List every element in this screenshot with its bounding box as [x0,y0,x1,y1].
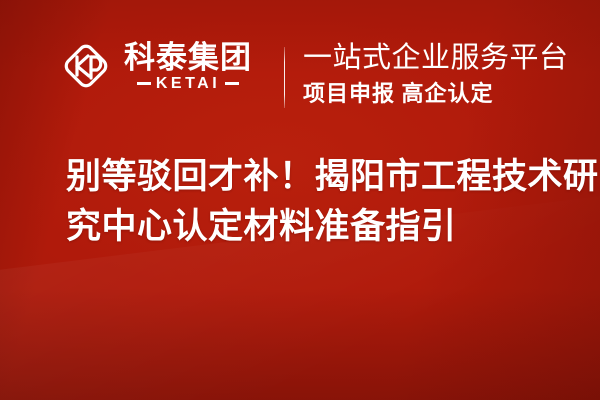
promo-banner: 科泰集团 KETAI 一站式企业服务平台 项目申报 高企认定 别等驳回才补！揭阳… [0,0,600,400]
brand-lockup: 科泰集团 KETAI [58,38,252,94]
dash-right-icon [225,82,239,85]
headline-line-2: 究中心认定材料准备指引 [66,202,566,252]
headline: 别等驳回才补！揭阳市工程技术研 究中心认定材料准备指引 [66,152,566,252]
vertical-divider [284,47,285,108]
headline-line-1: 别等驳回才补！揭阳市工程技术研 [66,152,566,202]
banner-content: 科泰集团 KETAI 一站式企业服务平台 项目申报 高企认定 别等驳回才补！揭阳… [0,0,600,400]
tagline-sub: 项目申报 高企认定 [303,81,563,107]
brand-name-en-row: KETAI [124,76,252,92]
brand-text-block: 科泰集团 KETAI [124,41,252,92]
brand-name-en: KETAI [156,76,220,92]
tagline-block: 一站式企业服务平台 项目申报 高企认定 [303,40,563,107]
ketai-kp-monogram-diamond-icon [58,38,114,94]
tagline-main: 一站式企业服务平台 [303,40,563,76]
dash-left-icon [137,82,151,85]
brand-name-cn: 科泰集团 [124,41,252,75]
